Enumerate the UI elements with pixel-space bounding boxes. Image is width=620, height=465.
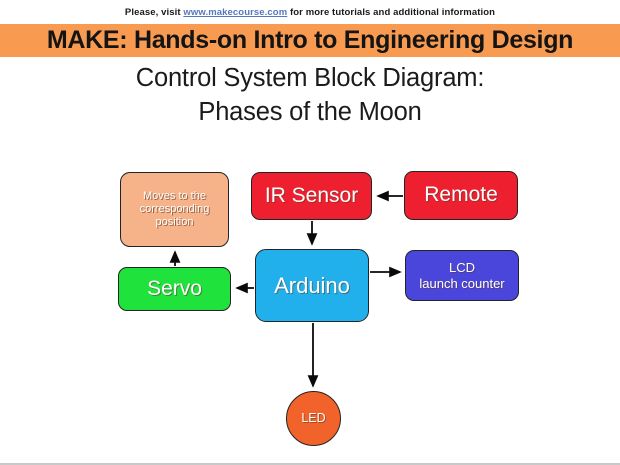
lcd-label-line-1: LCD [449, 260, 475, 275]
lcd-label-line-2: launch counter [419, 276, 504, 291]
diagram-node-label: LCD launch counter [406, 260, 518, 291]
block-diagram: Moves to the corresponding position IR S… [0, 0, 620, 465]
diagram-node-arduino[interactable]: Arduino [255, 249, 369, 322]
diagram-node-lcd[interactable]: LCD launch counter [405, 250, 519, 301]
diagram-node-servo[interactable]: Servo [118, 267, 231, 311]
diagram-node-led[interactable]: LED [286, 391, 341, 446]
diagram-node-moves-to-position[interactable]: Moves to the corresponding position [120, 172, 229, 247]
diagram-node-label: Moves to the corresponding position [121, 190, 228, 229]
diagram-node-label: Arduino [256, 273, 368, 299]
slide-canvas: Please, visit www.makecourse.com for mor… [0, 0, 620, 465]
diagram-node-label: IR Sensor [252, 184, 371, 209]
diagram-node-label: Servo [119, 277, 230, 302]
diagram-node-remote[interactable]: Remote [404, 171, 518, 220]
diagram-node-label: LED [287, 411, 340, 426]
diagram-node-ir-sensor[interactable]: IR Sensor [251, 172, 372, 220]
diagram-node-label: Remote [405, 183, 517, 208]
